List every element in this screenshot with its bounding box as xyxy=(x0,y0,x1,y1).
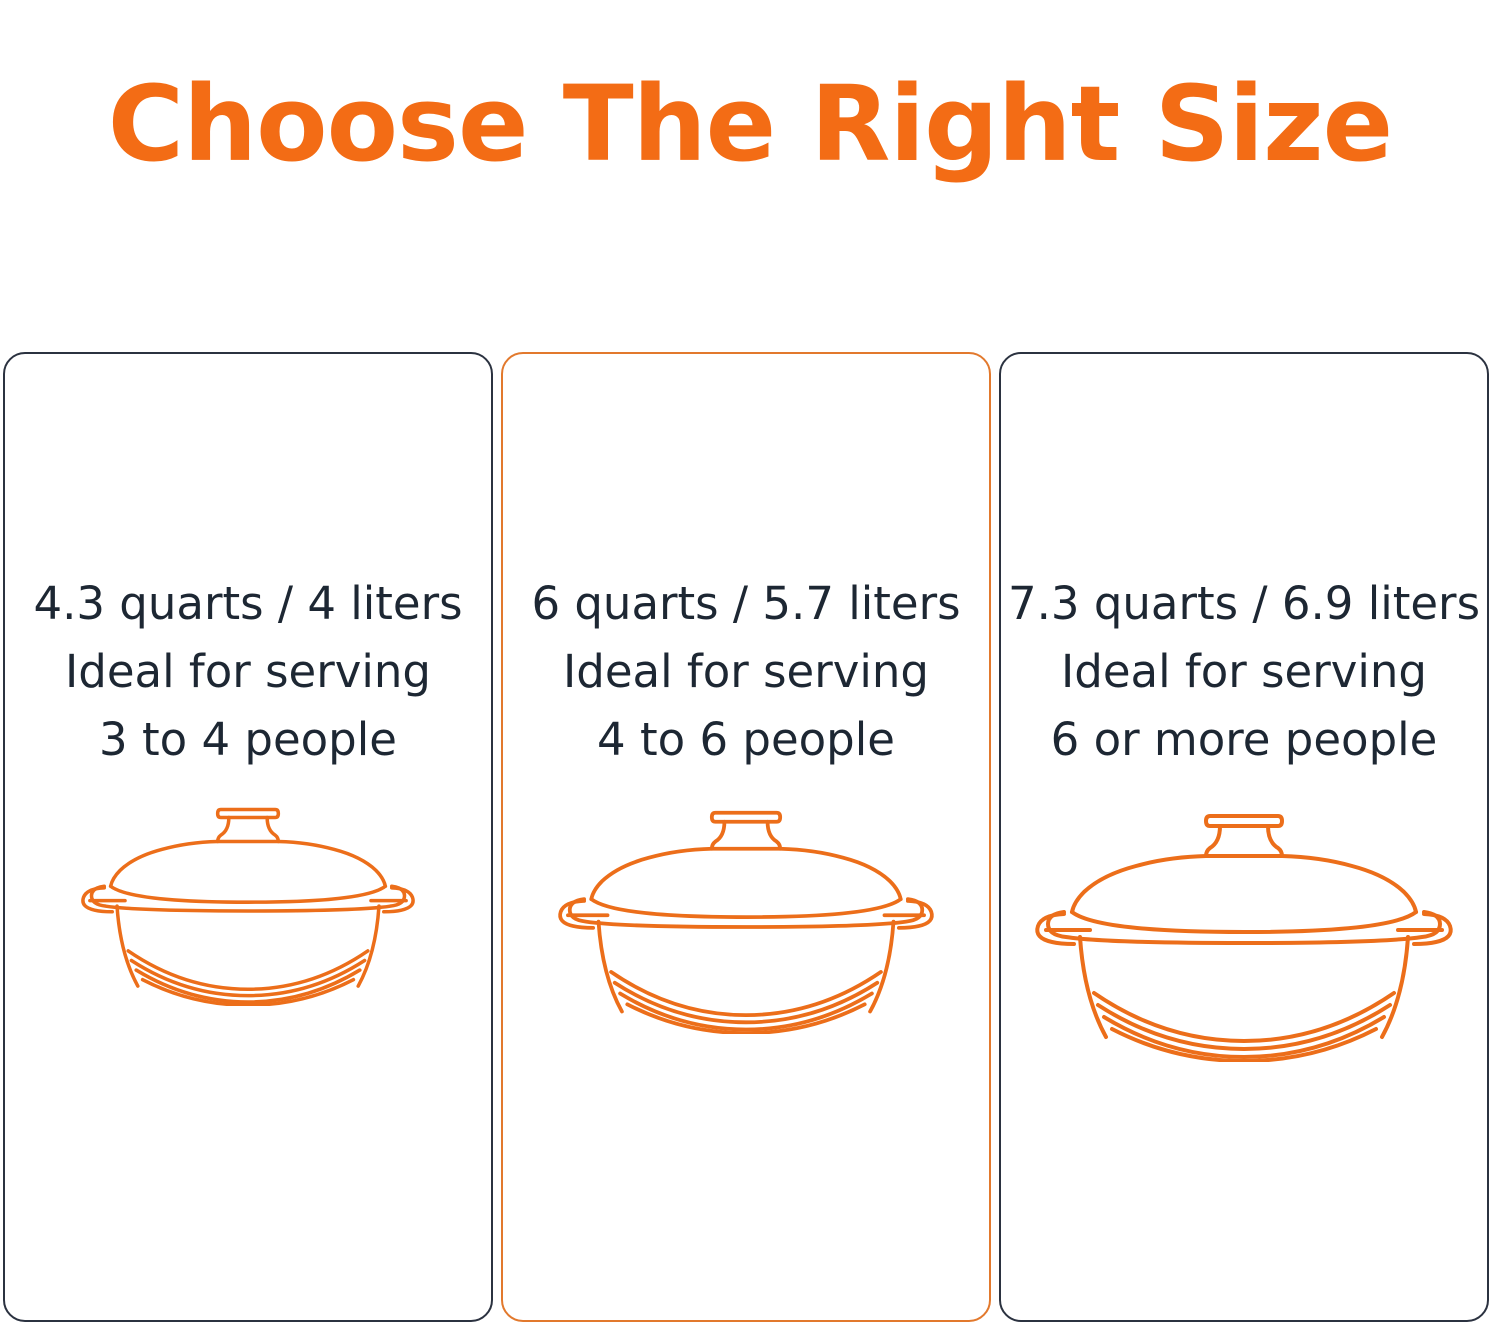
capacity-label: 6 quarts / 5.7 liters xyxy=(503,570,989,638)
serving-count-label: 3 to 4 people xyxy=(5,706,491,774)
page-title: Choose The Right Size xyxy=(0,64,1500,184)
serving-count-label: 6 or more people xyxy=(1001,706,1487,774)
dutch-oven-icon xyxy=(548,784,944,1034)
capacity-label: 4.3 quarts / 4 liters xyxy=(5,570,491,638)
dutch-oven-icon xyxy=(1024,784,1464,1062)
serving-count-label: 4 to 6 people xyxy=(503,706,989,774)
size-card-medium[interactable]: 6 quarts / 5.7 liters Ideal for serving … xyxy=(501,352,991,1322)
size-card-medium-text: 6 quarts / 5.7 liters Ideal for serving … xyxy=(503,570,989,774)
dutch-oven-illustration-wrap xyxy=(503,784,989,1034)
size-card-large[interactable]: 7.3 quarts / 6.9 liters Ideal for servin… xyxy=(999,352,1489,1322)
dutch-oven-illustration-wrap xyxy=(5,784,491,1006)
dutch-oven-illustration-wrap xyxy=(1001,784,1487,1062)
serving-label: Ideal for serving xyxy=(5,638,491,706)
dutch-oven-icon xyxy=(72,784,424,1006)
size-card-small-text: 4.3 quarts / 4 liters Ideal for serving … xyxy=(5,570,491,774)
serving-label: Ideal for serving xyxy=(503,638,989,706)
size-card-large-text: 7.3 quarts / 6.9 liters Ideal for servin… xyxy=(1001,570,1487,774)
size-card-small[interactable]: 4.3 quarts / 4 liters Ideal for serving … xyxy=(3,352,493,1322)
capacity-label: 7.3 quarts / 6.9 liters xyxy=(1001,570,1487,638)
size-cards-row: 4.3 quarts / 4 liters Ideal for serving … xyxy=(3,352,1489,1322)
serving-label: Ideal for serving xyxy=(1001,638,1487,706)
